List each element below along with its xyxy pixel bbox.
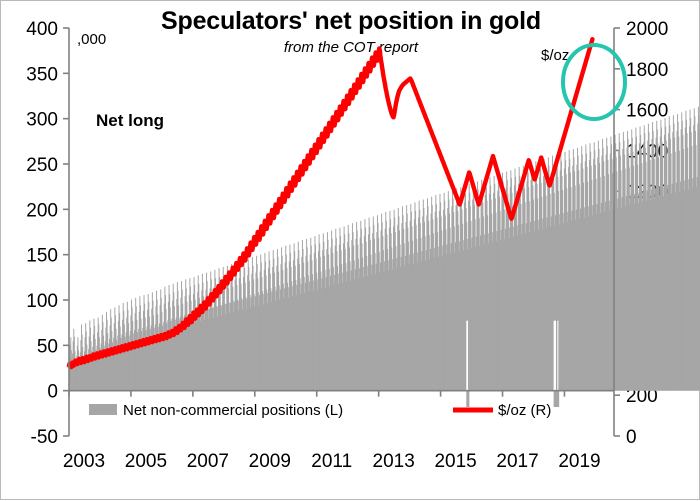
highlight-circle-annotation bbox=[563, 45, 625, 119]
x-tick-label: 2007 bbox=[187, 451, 229, 472]
right-tick-label: 1600 bbox=[626, 101, 668, 122]
x-tick-label: 2005 bbox=[125, 451, 167, 472]
area-gap bbox=[554, 321, 556, 391]
left-tick-label: 50 bbox=[37, 336, 58, 357]
legend-swatch-net-positions bbox=[89, 404, 117, 415]
area-gap bbox=[557, 321, 558, 391]
legend-label-net-positions: Net non-commercial positions (L) bbox=[123, 402, 343, 419]
x-tick-label: 2013 bbox=[373, 451, 415, 472]
series-net-positions-area bbox=[69, 94, 700, 407]
chart-container: Speculators' net position in gold from t… bbox=[0, 0, 700, 500]
legend-label-gold-price: $/oz (R) bbox=[498, 402, 551, 419]
left-tick-label: 350 bbox=[26, 64, 58, 85]
x-tick-label: 2011 bbox=[311, 451, 352, 472]
left-tick-label: 250 bbox=[26, 155, 58, 176]
x-tick-label: 2009 bbox=[249, 451, 291, 472]
chart-plot: -50050100150200250300350400 020040060080… bbox=[1, 1, 700, 501]
left-tick-label: 300 bbox=[26, 110, 58, 131]
x-tick-label: 2003 bbox=[63, 451, 105, 472]
area-negative-week bbox=[557, 391, 559, 407]
left-tick-label: 100 bbox=[26, 291, 58, 312]
x-tick-label: 2019 bbox=[558, 451, 600, 472]
area-negative-week bbox=[554, 391, 558, 407]
left-tick-label: 400 bbox=[26, 19, 58, 40]
chart-legend: Net non-commercial positions (L)$/oz (R) bbox=[89, 402, 551, 419]
left-tick-label: -50 bbox=[31, 427, 58, 448]
x-tick-label: 2017 bbox=[496, 451, 538, 472]
right-tick-label: 1800 bbox=[626, 60, 668, 81]
area-negative-week bbox=[466, 391, 469, 407]
left-axis-ticks: -50050100150200250300350400 bbox=[26, 19, 69, 448]
x-tick-label: 2015 bbox=[434, 451, 476, 472]
area-gap bbox=[466, 321, 468, 391]
left-tick-label: 150 bbox=[26, 246, 58, 267]
left-tick-label: 0 bbox=[47, 382, 58, 403]
right-tick-label: 0 bbox=[626, 427, 637, 448]
highlight-circle-icon bbox=[563, 45, 625, 119]
right-tick-label: 2000 bbox=[626, 19, 668, 40]
left-tick-label: 200 bbox=[26, 200, 58, 221]
